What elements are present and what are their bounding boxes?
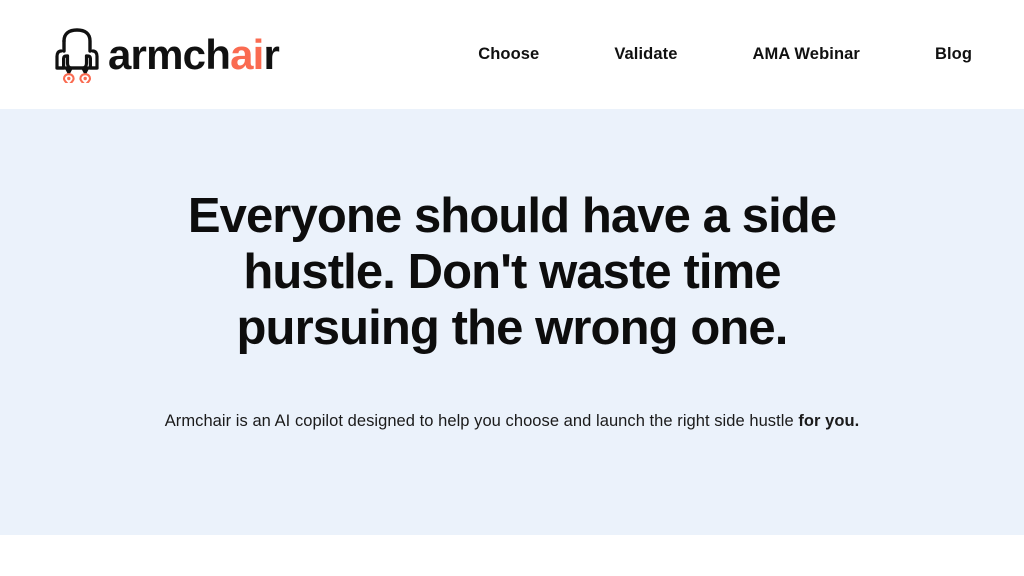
- hero-section: Everyone should have a side hustle. Don'…: [0, 109, 1024, 535]
- nav-item-ama-webinar[interactable]: AMA Webinar: [752, 39, 859, 70]
- site-header: armchair Choose Validate AMA Webinar Blo…: [0, 0, 1024, 109]
- main-navigation: Choose Validate AMA Webinar Blog: [478, 39, 972, 70]
- nav-item-validate[interactable]: Validate: [614, 39, 677, 70]
- brand-wordmark: armchair: [108, 34, 279, 76]
- brand-wordmark-accent: ai: [230, 31, 263, 78]
- page-root: armchair Choose Validate AMA Webinar Blo…: [0, 0, 1024, 576]
- hero-subheadline-emphasis: for you.: [798, 412, 859, 430]
- brand-wordmark-primary: armch: [108, 31, 230, 78]
- brand-wordmark-suffix: r: [264, 31, 280, 78]
- hero-subheadline-lead: Armchair is an AI copilot designed to he…: [165, 412, 799, 430]
- armchair-rocket-icon: [54, 27, 100, 83]
- page-footer-area: [0, 535, 1024, 576]
- brand-logo-link[interactable]: armchair: [54, 27, 279, 83]
- nav-item-choose[interactable]: Choose: [478, 39, 539, 70]
- nav-item-blog[interactable]: Blog: [935, 39, 972, 70]
- hero-headline: Everyone should have a side hustle. Don'…: [172, 188, 852, 356]
- hero-subheadline: Armchair is an AI copilot designed to he…: [162, 408, 862, 434]
